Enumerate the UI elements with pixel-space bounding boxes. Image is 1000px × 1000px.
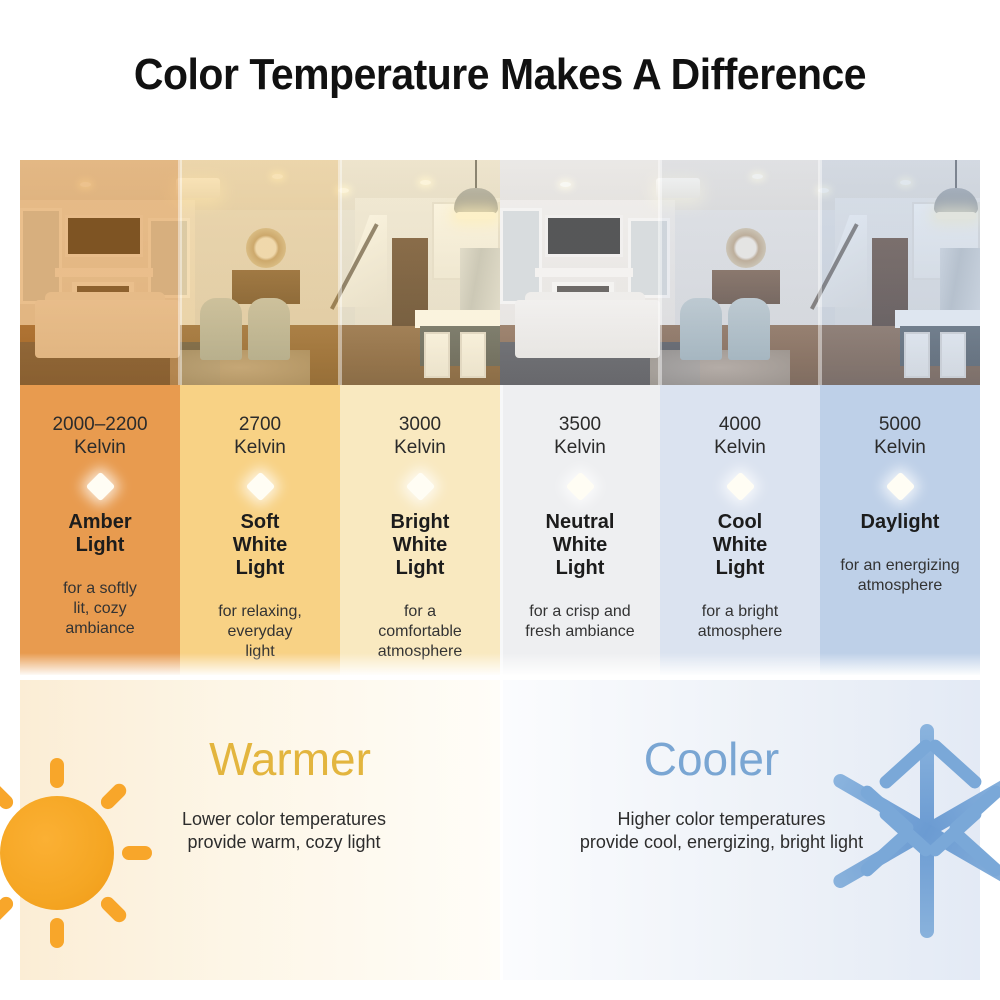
column-cool-white-light[interactable]: 4000Kelvin CoolWhiteLight for a brightat…	[660, 385, 820, 675]
summary-cooler: Cooler Higher color temperaturesprovide …	[503, 680, 980, 980]
diamond-icon	[405, 472, 435, 502]
room-photo-warm	[20, 160, 500, 385]
diamond-icon	[885, 472, 915, 502]
kelvin-label: 4000Kelvin	[668, 413, 812, 459]
cooler-description: Higher color temperaturesprovide cool, e…	[503, 808, 980, 854]
light-name: SoftWhiteLight	[188, 511, 332, 580]
kelvin-label: 5000Kelvin	[828, 413, 972, 459]
infographic-root: Color Temperature Makes A Difference	[0, 0, 1000, 1000]
light-description: for a crisp andfresh ambiance	[508, 602, 652, 642]
warmer-description: Lower color temperaturesprovide warm, co…	[20, 808, 500, 854]
column-bright-white-light[interactable]: 3000Kelvin BrightWhiteLight for acomfort…	[340, 385, 500, 675]
diamond-icon	[245, 472, 275, 502]
light-name: BrightWhiteLight	[348, 511, 492, 580]
light-name: NeutralWhiteLight	[508, 511, 652, 580]
kelvin-label: 3000Kelvin	[348, 413, 492, 459]
kelvin-label: 3500Kelvin	[508, 413, 652, 459]
column-neutral-white-light[interactable]: 3500Kelvin NeutralWhiteLight for a crisp…	[500, 385, 660, 675]
diamond-icon	[85, 472, 115, 502]
room-photo-cool	[500, 160, 980, 385]
light-name: Daylight	[828, 511, 972, 534]
diamond-icon	[725, 472, 755, 502]
light-description: for a softlylit, cozyambiance	[28, 579, 172, 639]
light-description: for a brightatmosphere	[668, 602, 812, 642]
photo-cool-half	[500, 160, 980, 385]
photo-comparison-strip	[20, 160, 980, 385]
page-title: Color Temperature Makes A Difference	[35, 50, 965, 100]
diamond-icon	[565, 472, 595, 502]
summary-warmer: Warmer Lower color temperaturesprovide w…	[20, 680, 500, 980]
light-description: for an energizingatmosphere	[828, 556, 972, 596]
cooler-heading: Cooler	[503, 732, 980, 786]
warmer-heading: Warmer	[20, 732, 500, 786]
color-temperature-columns: 2000–2200Kelvin AmberLight for a softlyl…	[20, 385, 980, 675]
light-name: AmberLight	[28, 511, 172, 557]
summary-panel: Warmer Lower color temperaturesprovide w…	[20, 680, 980, 980]
column-soft-white-light[interactable]: 2700Kelvin SoftWhiteLight for relaxing,e…	[180, 385, 340, 675]
kelvin-label: 2700Kelvin	[188, 413, 332, 459]
photo-warm-half	[20, 160, 500, 385]
light-name: CoolWhiteLight	[668, 511, 812, 580]
kelvin-label: 2000–2200Kelvin	[28, 413, 172, 459]
column-daylight[interactable]: 5000Kelvin Daylight for an energizingatm…	[820, 385, 980, 675]
column-amber-light[interactable]: 2000–2200Kelvin AmberLight for a softlyl…	[20, 385, 180, 675]
